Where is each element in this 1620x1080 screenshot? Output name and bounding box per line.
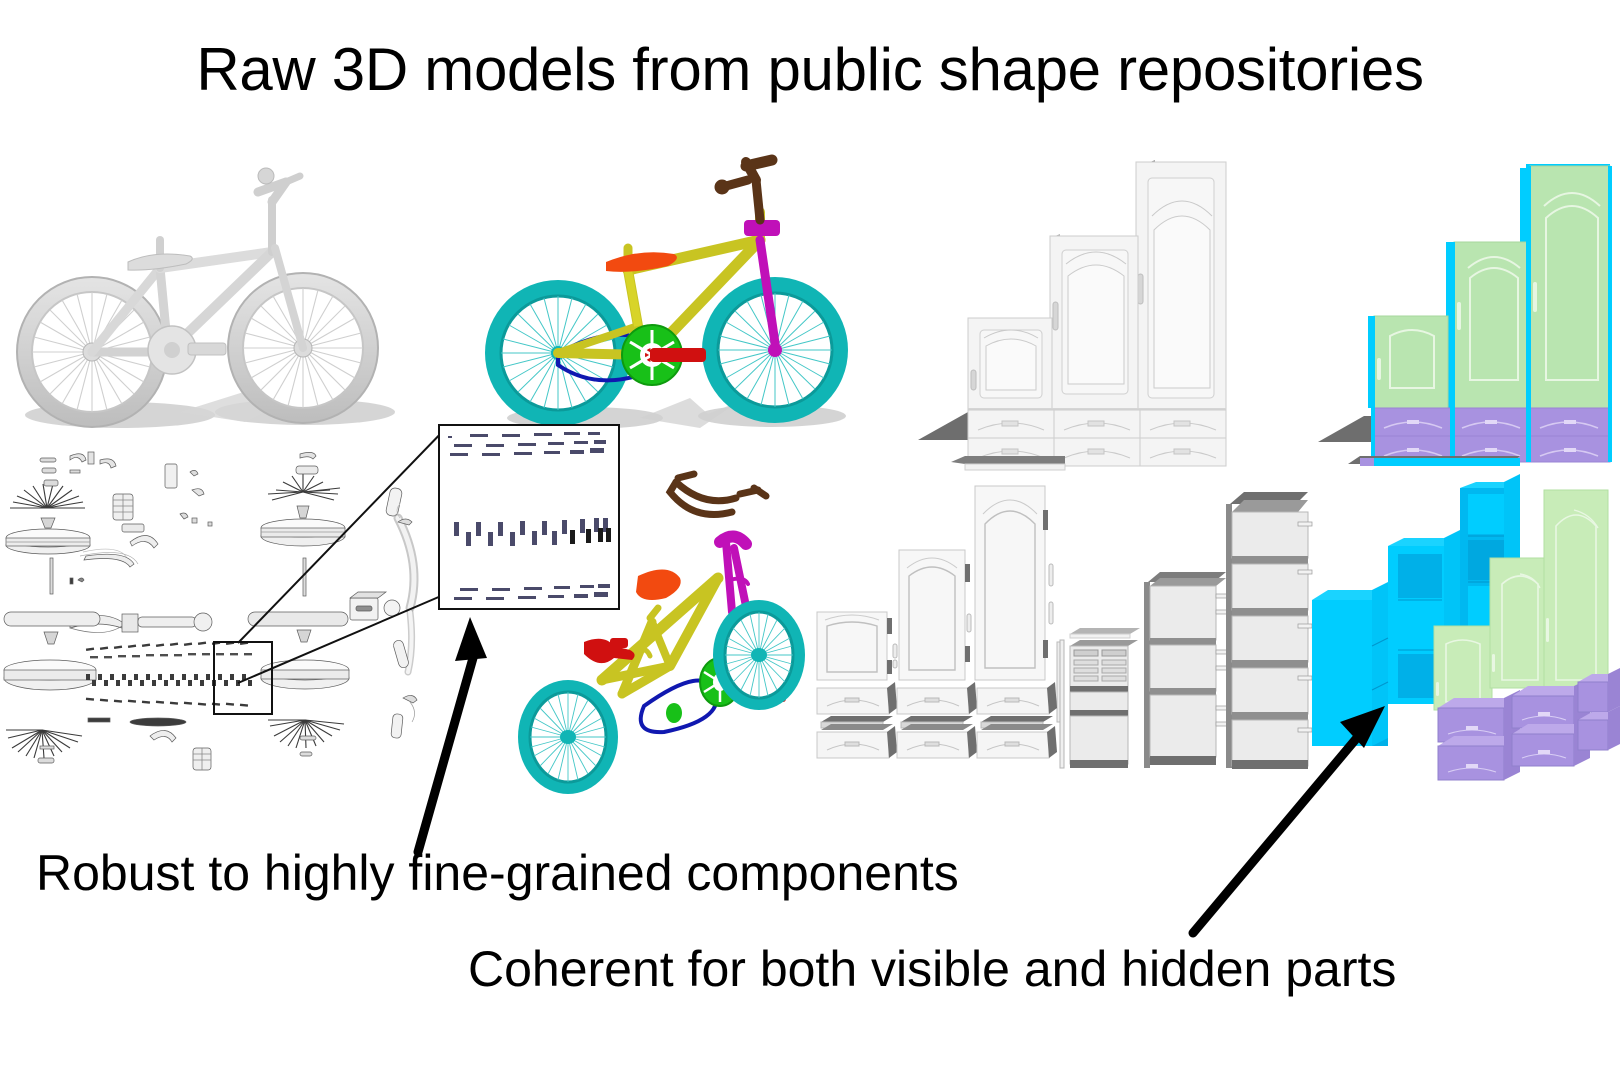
- door-small: [817, 612, 897, 680]
- cabinet-unit-small: [968, 318, 1052, 410]
- rim-large: [4, 660, 96, 690]
- handlebar: [715, 160, 772, 220]
- handlebar: [670, 474, 766, 515]
- hub: [44, 632, 58, 644]
- page-title: Raw 3D models from public shape reposito…: [0, 38, 1620, 101]
- carcass-mid: [1144, 572, 1230, 768]
- figure-cabinet-grey-carcass: [1008, 460, 1308, 770]
- cabinet-unit-mid: [1050, 236, 1138, 410]
- spoke-fan: [10, 484, 85, 508]
- spoke-rod: [303, 558, 306, 596]
- drivetrain: [148, 326, 226, 374]
- handlebar: [258, 168, 300, 202]
- caption-coherent: Coherent for both visible and hidden par…: [468, 940, 1396, 998]
- tube: [4, 612, 100, 626]
- small-part: [38, 452, 318, 770]
- top-rail: [1070, 628, 1140, 638]
- caption-robust: Robust to highly fine-grained components: [36, 844, 959, 902]
- pedal-crank: [650, 348, 706, 362]
- figure-bike-colored-assembled: [460, 150, 860, 435]
- door-tall: [1544, 490, 1608, 690]
- top-rail: [1348, 456, 1520, 466]
- figure-bike-grey-assembled: [0, 140, 400, 435]
- door-mid: [1490, 558, 1550, 688]
- spoke-fan: [6, 730, 82, 758]
- door-mid: [899, 550, 971, 680]
- small-green-part: [666, 703, 682, 723]
- figure-cabinet-colored-exploded: [1272, 458, 1620, 788]
- figure-cabinet-colored-assembled: [1268, 150, 1620, 460]
- figure-bike-colored-exploded: [498, 450, 808, 775]
- rim: [6, 529, 90, 554]
- wheel-rear: [518, 680, 618, 794]
- carcass-short: [1070, 640, 1138, 768]
- figure-bike-grey-exploded: [0, 430, 450, 770]
- tube: [248, 612, 348, 626]
- rim-large: [261, 660, 349, 689]
- chain-links-row: [86, 641, 252, 706]
- saddle: [636, 569, 681, 600]
- hub: [297, 630, 311, 642]
- drawer-bank: [1374, 408, 1610, 462]
- cabinet-unit-tall: [1136, 162, 1226, 410]
- spoke-fan: [268, 720, 344, 748]
- hub: [41, 518, 55, 528]
- door-tall: [1530, 166, 1610, 408]
- figure-cabinet-grey-assembled: [880, 150, 1210, 460]
- seatpost: [628, 270, 638, 326]
- door-small: [1434, 626, 1492, 710]
- slide-canvas: Raw 3D models from public shape reposito…: [0, 0, 1620, 1080]
- small-part: [350, 487, 417, 738]
- hub: [297, 506, 309, 518]
- door-small: [1374, 316, 1448, 408]
- rim: [261, 519, 345, 546]
- side-panel: [1060, 640, 1064, 768]
- zoom-connector: [238, 426, 448, 683]
- saddle: [606, 252, 677, 272]
- spoke-fan: [268, 474, 340, 500]
- spoke-rod: [50, 558, 53, 594]
- door-mid: [1454, 242, 1530, 408]
